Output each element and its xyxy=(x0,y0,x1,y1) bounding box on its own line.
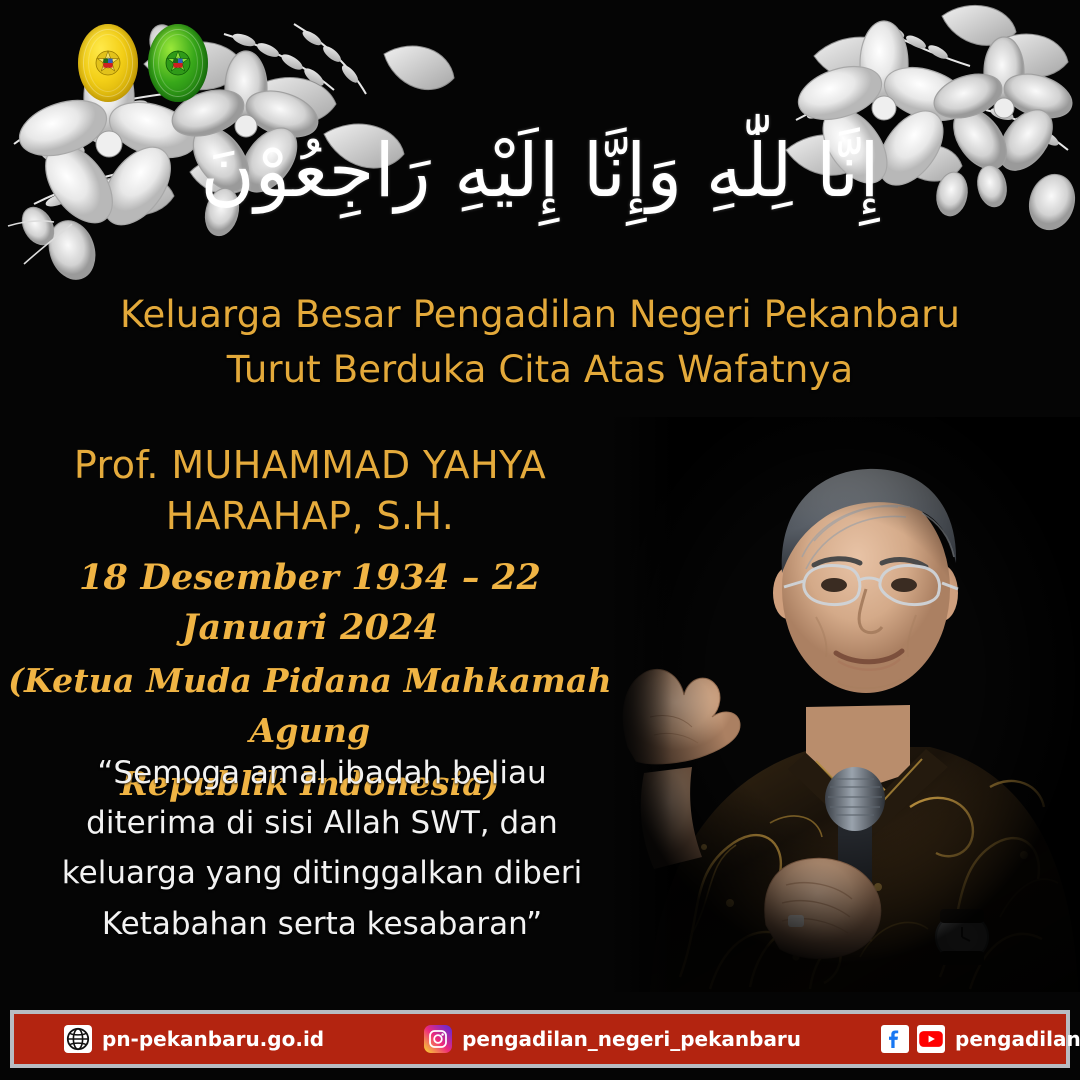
portrait-photo xyxy=(610,417,1080,992)
instagram-icon xyxy=(424,1025,452,1053)
deceased-name-line-2: HARAHAP, S.H. xyxy=(0,491,620,542)
footer-social-icons xyxy=(881,1025,945,1053)
footer-instagram-item[interactable]: pengadilan_negeri_pekanbaru xyxy=(424,1025,801,1053)
deceased-name-line-1: Prof. MUHAMMAD YAHYA xyxy=(0,440,620,491)
footer-website-item[interactable]: pn-pekanbaru.go.id xyxy=(64,1025,324,1053)
institutional-emblems xyxy=(78,24,208,102)
emblem-star-icon xyxy=(165,50,191,76)
quote-line-3: keluarga yang ditinggalkan diberi xyxy=(22,848,622,898)
heading-line-1: Keluarga Besar Pengadilan Negeri Pekanba… xyxy=(0,288,1080,343)
condolence-poster: إِنَّا لِلّٰهِ وَإِنَّا إِلَيْهِ رَاجِعُ… xyxy=(0,0,1080,1080)
deceased-dates: 18 Desember 1934 – 22 Januari 2024 xyxy=(0,553,620,652)
heading-line-2: Turut Berduka Cita Atas Wafatnya xyxy=(0,343,1080,398)
emblem-mahkamah-agung xyxy=(78,24,138,102)
footer-facebook-youtube-label: pengadilan negeri pekanbaru xyxy=(955,1027,1080,1051)
emblem-star-icon xyxy=(95,50,121,76)
memorial-quote: “Semoga amal ibadah beliau diterima di s… xyxy=(22,748,622,949)
condolence-heading: Keluarga Besar Pengadilan Negeri Pekanba… xyxy=(0,288,1080,398)
arabic-calligraphy: إِنَّا لِلّٰهِ وَإِنَّا إِلَيْهِ رَاجِعُ… xyxy=(0,125,1080,218)
globe-icon xyxy=(64,1025,92,1053)
footer-instagram-label: pengadilan_negeri_pekanbaru xyxy=(462,1027,801,1051)
social-media-footer-bar: pn-pekanbaru.go.id pengadilan_negeri_pek… xyxy=(10,1010,1070,1068)
footer-website-label: pn-pekanbaru.go.id xyxy=(102,1027,324,1051)
quote-line-4: Ketabahan serta kesabaran” xyxy=(22,899,622,949)
deceased-role-line-1: (Ketua Muda Pidana Mahkamah Agung xyxy=(0,656,620,755)
facebook-icon xyxy=(881,1025,909,1053)
footer-facebook-youtube-item[interactable]: pengadilan negeri pekanbaru xyxy=(881,1025,1080,1053)
quote-line-2: diterima di sisi Allah SWT, dan xyxy=(22,798,622,848)
youtube-icon xyxy=(917,1025,945,1053)
emblem-pengadilan-negeri-pekanbaru xyxy=(148,24,208,102)
quote-line-1: “Semoga amal ibadah beliau xyxy=(22,748,622,798)
